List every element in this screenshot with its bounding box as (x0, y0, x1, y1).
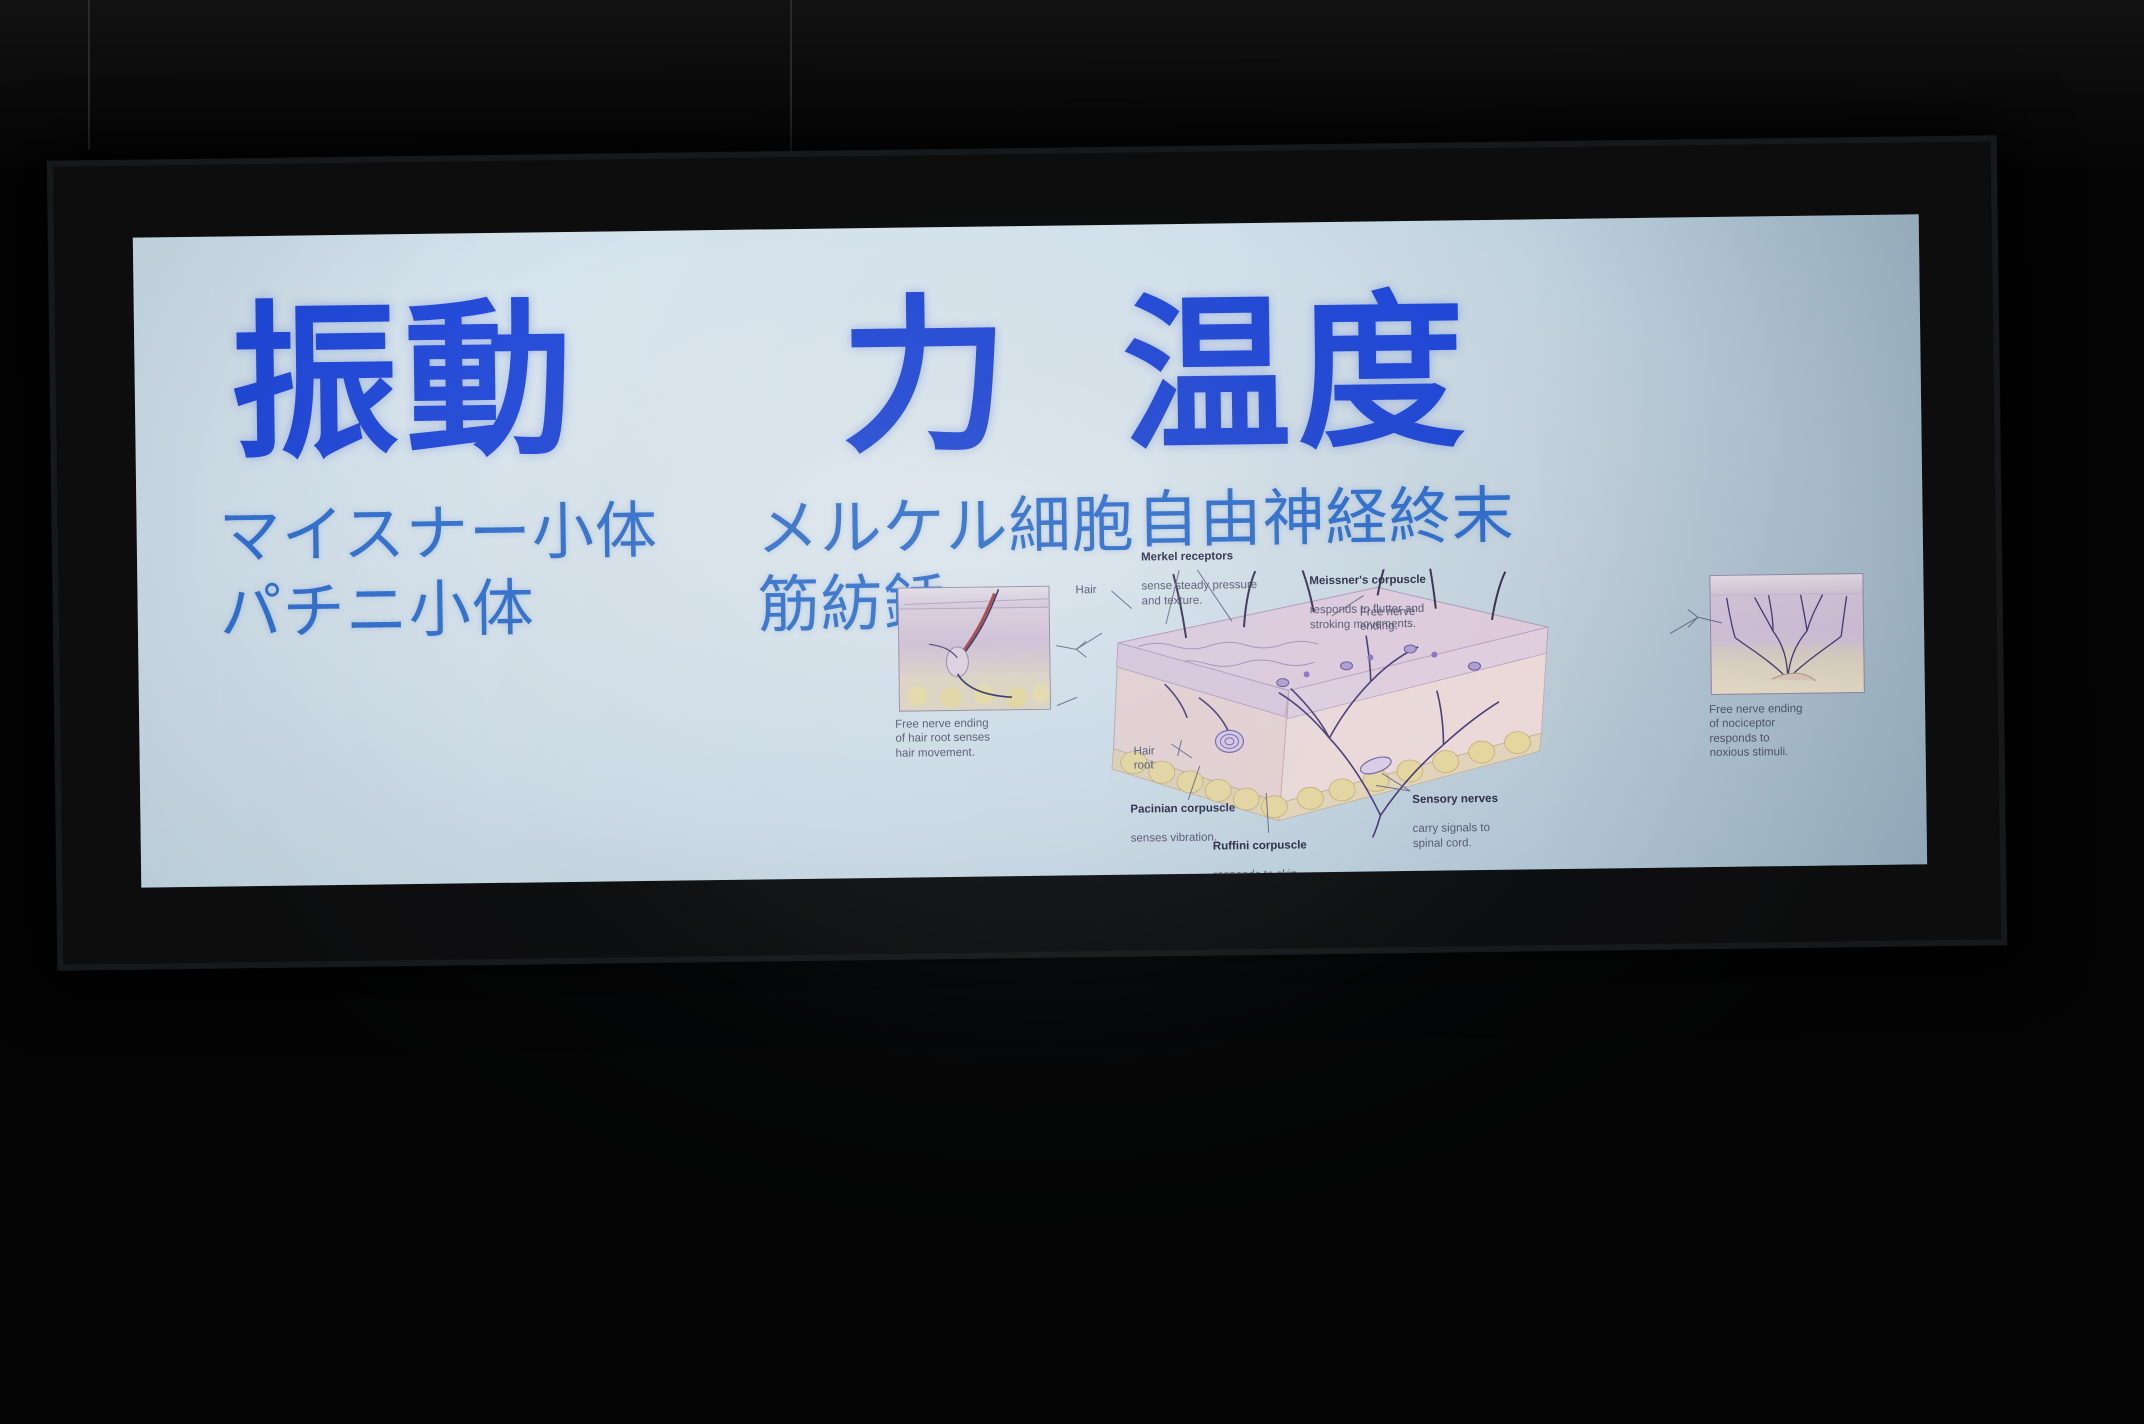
label-merkel-receptors-title: Merkel receptors (1141, 549, 1291, 565)
label-merkel-receptors: Merkel receptors sense steady pressure a… (1141, 535, 1292, 609)
label-meissners-corpuscle-title: Meissner's corpuscle (1309, 573, 1469, 589)
heading-vibration: 振動 (230, 296, 580, 469)
label-ruffini-corpuscle: Ruffini corpuscle responds to skin stret… (1213, 824, 1364, 888)
subtitle-vibration-receptors: マイスナー小体 パチニ小体 (218, 493, 659, 650)
projected-slide: 振動 力 温度 マイスナー小体 パチニ小体 メルケル細胞 筋紡錘 自由神経終末 (133, 214, 1927, 887)
label-pacinian-corpuscle-body: senses vibration. (1131, 832, 1217, 845)
photo-scene: 振動 力 温度 マイスナー小体 パチニ小体 メルケル細胞 筋紡錘 自由神経終末 (0, 0, 2144, 1424)
label-hair: Hair (1075, 583, 1135, 598)
label-merkel-receptors-body: sense steady pressure and texture. (1141, 579, 1257, 607)
label-hair-root: Hair root (1134, 744, 1194, 774)
heading-row: 振動 力 温度 (134, 278, 1922, 491)
nociceptor-inset-panel (1709, 573, 1865, 695)
free-nerve-ending-illustration (1710, 574, 1864, 694)
label-sensory-nerves-title: Sensory nerves (1412, 792, 1542, 808)
label-sensory-nerves: Sensory nerves carry signals to spinal c… (1412, 777, 1543, 851)
label-hair-root-caption: Free nerve ending of hair root senses ha… (895, 716, 1066, 761)
hair-root-inset-panel (897, 586, 1051, 712)
label-ruffini-corpuscle-body: responds to skin stretch. (1213, 869, 1297, 888)
label-nociceptor-caption: Free nerve ending of nociceptor responds… (1709, 701, 1860, 760)
skin-receptor-figure: Merkel receptors sense steady pressure a… (879, 535, 1893, 878)
pacinian-corpuscle-shape (1215, 730, 1243, 752)
label-ruffini-corpuscle-title: Ruffini corpuscle (1213, 838, 1363, 854)
hair-follicle-illustration (898, 587, 1050, 711)
heading-force: 力 (840, 292, 1016, 462)
suspension-wire-left (88, 0, 90, 150)
projection-screen-frame: 振動 力 温度 マイスナー小体 パチニ小体 メルケル細胞 筋紡錘 自由神経終末 (47, 135, 2007, 970)
label-sensory-nerves-body: carry signals to spinal cord. (1413, 822, 1490, 849)
label-pacinian-corpuscle-title: Pacinian corpuscle (1130, 801, 1280, 817)
heading-temperature: 温度 (1122, 288, 1472, 461)
label-free-nerve-ending: Free nerve ending. (1360, 605, 1440, 635)
suspension-wire-right (790, 0, 792, 152)
